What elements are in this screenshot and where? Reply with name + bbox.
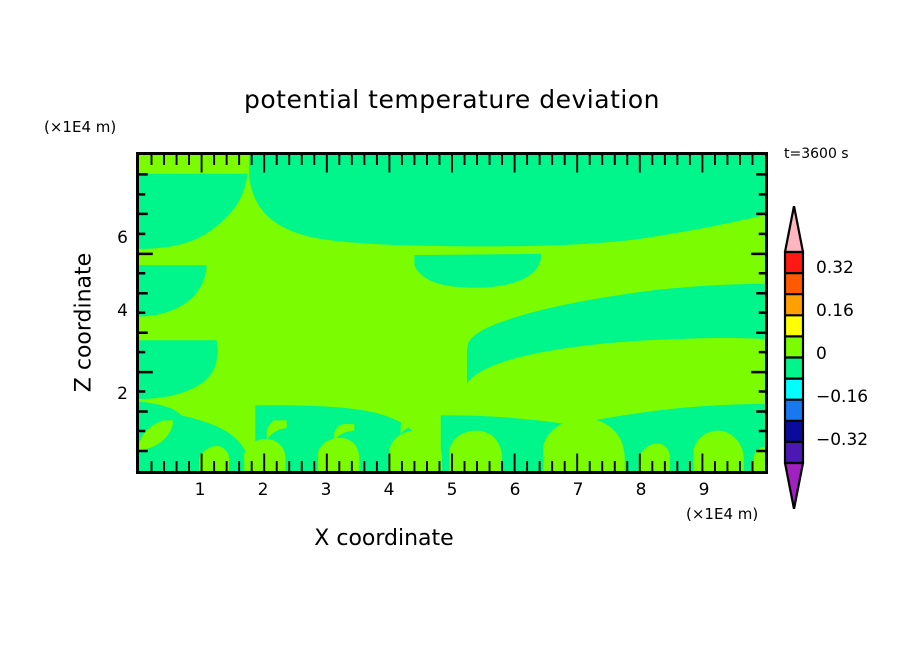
x-tick-label-2: 2 xyxy=(243,480,283,500)
colorbar-label-3: −0.16 xyxy=(816,387,868,407)
x-tick-label-6: 6 xyxy=(495,480,535,500)
x-tick-label-3: 3 xyxy=(306,480,346,500)
page-title: potential temperature deviation xyxy=(0,85,904,114)
colorbar xyxy=(783,206,805,509)
colorbar-under-arrow xyxy=(785,463,803,509)
colorbar-label-2: 0 xyxy=(816,344,827,364)
colorbar-over-arrow xyxy=(785,206,803,252)
y-axis-unit-label: (×1E4 m) xyxy=(44,118,116,136)
x-axis-title: X coordinate xyxy=(0,526,768,551)
x-tick-label-9: 9 xyxy=(684,480,724,500)
colorbar-label-0: 0.32 xyxy=(816,258,854,278)
x-axis-unit-label: (×1E4 m) xyxy=(686,505,758,523)
y-tick-label-2: 2 xyxy=(98,384,128,404)
x-tick-label-8: 8 xyxy=(621,480,661,500)
x-tick-label-5: 5 xyxy=(432,480,472,500)
colorbar-label-4: −0.32 xyxy=(816,430,868,450)
figure-canvas: potential temperature deviation (×1E4 m)… xyxy=(0,0,904,654)
x-tick-label-7: 7 xyxy=(558,480,598,500)
time-annotation: t=3600 s xyxy=(784,146,849,162)
colorbar-label-1: 0.16 xyxy=(816,301,854,321)
plot-area xyxy=(136,152,768,474)
y-axis-title: Z coordinate xyxy=(72,203,97,443)
x-tick-label-4: 4 xyxy=(369,480,409,500)
axis-tick-marks xyxy=(139,155,765,471)
y-tick-label-4: 4 xyxy=(98,301,128,321)
x-tick-label-1: 1 xyxy=(180,480,220,500)
y-tick-label-6: 6 xyxy=(98,228,128,248)
